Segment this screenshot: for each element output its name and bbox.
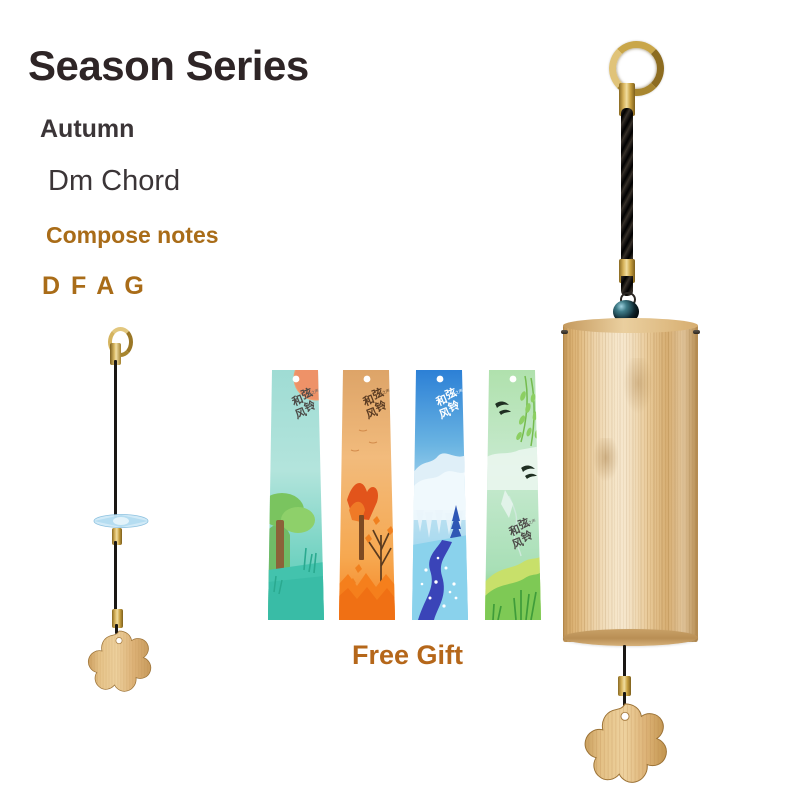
bamboo-tube	[563, 318, 698, 648]
chord-label: Dm Chord	[48, 165, 180, 198]
season-label: Autumn	[40, 115, 134, 144]
bamboo-grain-knot-upper	[623, 358, 653, 414]
product-image-canvas: Season Series Autumn Dm Chord Compose no…	[0, 0, 800, 800]
braided-cord	[621, 108, 633, 280]
hanging-ring-icon	[609, 41, 664, 96]
free-gift-label: Free Gift	[352, 640, 463, 671]
bamboo-tube-bottom-rim	[563, 629, 698, 646]
tube-pin-right	[693, 330, 700, 334]
tube-pin-left	[561, 330, 568, 334]
page-title: Season Series	[28, 42, 309, 90]
gift-card-summer: 和弦 风铃 流之声	[485, 370, 541, 620]
compose-notes-label: Compose notes	[46, 222, 219, 249]
gift-card-winter: 和弦 风铃 流之声	[412, 370, 468, 620]
gift-card-autumn: 和弦 风铃 流之声	[339, 370, 395, 620]
flower-wind-catcher-small	[82, 628, 156, 708]
bamboo-grain-knot-lower	[593, 438, 619, 482]
flower-wind-catcher-main	[576, 700, 674, 804]
compose-notes-value: D F A G	[42, 272, 146, 301]
bamboo-tube-top-rim	[563, 318, 698, 333]
small-chime-cord-upper	[114, 360, 117, 522]
gift-card-spring: 和弦 风铃 流之声	[268, 370, 324, 620]
